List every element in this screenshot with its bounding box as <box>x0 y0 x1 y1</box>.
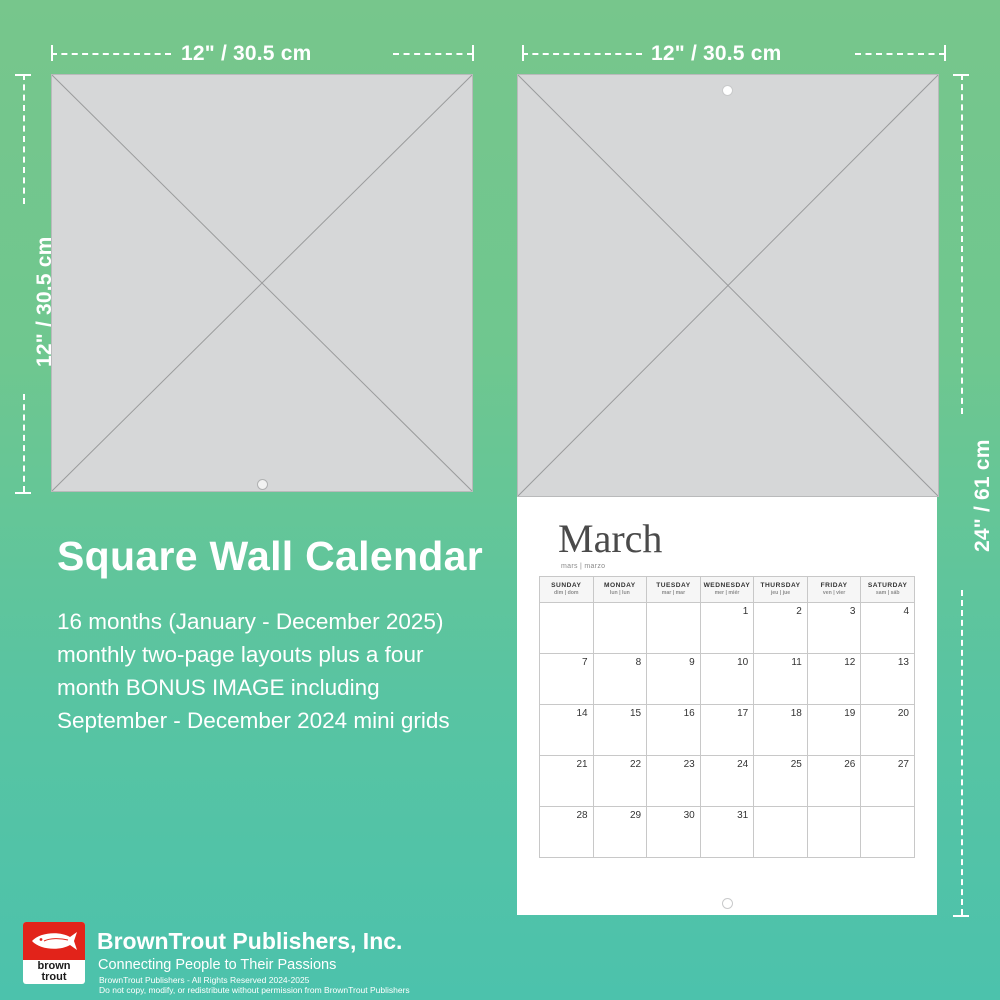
calendar-day-cell[interactable]: 16 <box>647 705 701 756</box>
calendar-day-cell[interactable] <box>540 603 594 654</box>
calendar-header-sunday: SUNDAY dim | dom <box>540 577 594 603</box>
calendar-day-cell-empty <box>807 807 861 858</box>
calendar-day-cell[interactable]: 30 <box>647 807 701 858</box>
calendar-day-cell[interactable]: 8 <box>593 654 647 705</box>
dow-label: THURSDAY <box>754 582 807 589</box>
publisher-tagline: Connecting People to Their Passions <box>98 957 336 973</box>
left-height-arrow-bottom <box>23 394 25 492</box>
calendar-day-cell-empty <box>861 807 915 858</box>
dow-alt-label: sam | sáb <box>861 590 914 596</box>
dow-alt-label: ven | vier <box>808 590 861 596</box>
calendar-day-cell[interactable]: 20 <box>861 705 915 756</box>
calendar-day-cell[interactable]: 28 <box>540 807 594 858</box>
calendar-day-cell[interactable]: 18 <box>754 705 808 756</box>
calendar-page: March mars | marzo SUNDAY dim | dom MOND… <box>517 497 937 915</box>
blurb-line-1: 16 months (January - December 2025) <box>57 605 527 638</box>
right-height-label: 24" / 61 cm <box>971 439 995 552</box>
calendar-grid: SUNDAY dim | dom MONDAY lun | lun TUESDA… <box>539 576 915 858</box>
calendar-day-cell[interactable]: 12 <box>807 654 861 705</box>
legal-line-2: Do not copy, modify, or redistribute wit… <box>99 985 410 995</box>
calendar-day-cell[interactable]: 15 <box>593 705 647 756</box>
calendar-day-cell-empty <box>754 807 808 858</box>
calendar-day-cell[interactable]: 21 <box>540 756 594 807</box>
calendar-header-saturday: SATURDAY sam | sáb <box>861 577 915 603</box>
logo-text-bottom: trout <box>23 972 85 983</box>
calendar-day-cell[interactable]: 1 <box>700 603 754 654</box>
calendar-day-cell[interactable]: 10 <box>700 654 754 705</box>
browntrout-logo: brown trout <box>23 922 85 984</box>
legal-line-1: BrownTrout Publishers - All Rights Reser… <box>99 975 309 985</box>
calendar-day-cell[interactable]: 13 <box>861 654 915 705</box>
dow-alt-label: mer | miér <box>701 590 754 596</box>
calendar-day-cell[interactable] <box>647 603 701 654</box>
dow-label: MONDAY <box>594 582 647 589</box>
placeholder-cross-icon <box>52 75 472 491</box>
calendar-day-cell[interactable]: 26 <box>807 756 861 807</box>
dow-label: SATURDAY <box>861 582 914 589</box>
calendar-day-cell[interactable]: 22 <box>593 756 647 807</box>
dow-label: FRIDAY <box>808 582 861 589</box>
right-top-punch-hole <box>722 85 733 96</box>
calendar-day-cell[interactable]: 29 <box>593 807 647 858</box>
left-punch-hole <box>257 479 268 490</box>
right-width-arrow-right <box>855 53 945 55</box>
calendar-day-cell[interactable]: 17 <box>700 705 754 756</box>
dow-alt-label: mar | mar <box>647 590 700 596</box>
product-description: 16 months (January - December 2025) mont… <box>57 605 527 737</box>
dow-label: SUNDAY <box>540 582 593 589</box>
placeholder-cross-icon <box>518 75 938 496</box>
left-cover-placeholder <box>51 74 473 492</box>
right-width-label: 12" / 30.5 cm <box>651 42 781 66</box>
right-height-cap-top <box>953 74 969 76</box>
dow-alt-label: dim | dom <box>540 590 593 596</box>
left-height-cap-bottom <box>15 492 31 494</box>
calendar-day-cell[interactable]: 31 <box>700 807 754 858</box>
right-width-cap-end <box>944 45 946 61</box>
right-width-cap-start <box>522 45 524 61</box>
calendar-day-cell[interactable]: 2 <box>754 603 808 654</box>
blurb-line-2: monthly two-page layouts plus a four <box>57 638 527 671</box>
right-height-arrow-bottom <box>961 590 963 915</box>
page-title: Square Wall Calendar <box>57 533 483 580</box>
calendar-month-title: March <box>558 519 662 559</box>
footer: brown trout BrownTrout Publishers, Inc. … <box>0 916 1000 1000</box>
left-width-cap-start <box>51 45 53 61</box>
calendar-day-cell[interactable]: 11 <box>754 654 808 705</box>
right-cover-placeholder <box>517 74 939 497</box>
publisher-name: BrownTrout Publishers, Inc. <box>97 928 402 955</box>
left-width-label: 12" / 30.5 cm <box>181 42 311 66</box>
calendar-day-cell[interactable]: 7 <box>540 654 594 705</box>
calendar-day-cell[interactable]: 14 <box>540 705 594 756</box>
blurb-line-4: September - December 2024 mini grids <box>57 704 527 737</box>
calendar-day-cell[interactable]: 27 <box>861 756 915 807</box>
calendar-month-subtitle: mars | marzo <box>561 563 605 570</box>
left-height-arrow-top <box>23 74 25 204</box>
calendar-header-monday: MONDAY lun | lun <box>593 577 647 603</box>
blurb-line-3: month BONUS IMAGE including <box>57 671 527 704</box>
calendar-week-row: 28 29 30 31 <box>540 807 915 858</box>
calendar-header-row: SUNDAY dim | dom MONDAY lun | lun TUESDA… <box>540 577 915 603</box>
calendar-day-cell[interactable]: 4 <box>861 603 915 654</box>
calendar-header-thursday: THURSDAY jeu | jue <box>754 577 808 603</box>
calendar-header-friday: FRIDAY ven | vier <box>807 577 861 603</box>
right-width-arrow-left <box>522 53 642 55</box>
right-bottom-punch-hole <box>722 898 733 909</box>
dow-label: TUESDAY <box>647 582 700 589</box>
calendar-day-cell[interactable] <box>593 603 647 654</box>
left-height-cap-top <box>15 74 31 76</box>
dow-alt-label: jeu | jue <box>754 590 807 596</box>
calendar-day-cell[interactable]: 23 <box>647 756 701 807</box>
calendar-week-row: 14 15 16 17 18 19 20 <box>540 705 915 756</box>
calendar-week-row: 21 22 23 24 25 26 27 <box>540 756 915 807</box>
calendar-week-row: 1 2 3 4 <box>540 603 915 654</box>
left-width-arrow-left <box>51 53 171 55</box>
dow-label: WEDNESDAY <box>701 582 754 589</box>
product-spec-page: 12" / 30.5 cm 12" / 30.5 cm 12" / 30.5 c… <box>0 0 1000 1000</box>
left-width-arrow-right <box>393 53 473 55</box>
calendar-day-cell[interactable]: 3 <box>807 603 861 654</box>
calendar-week-row: 7 8 9 10 11 12 13 <box>540 654 915 705</box>
left-width-cap-end <box>472 45 474 61</box>
calendar-day-cell[interactable]: 24 <box>700 756 754 807</box>
calendar-day-cell[interactable]: 19 <box>807 705 861 756</box>
calendar-header-wednesday: WEDNESDAY mer | miér <box>700 577 754 603</box>
dow-alt-label: lun | lun <box>594 590 647 596</box>
calendar-header-tuesday: TUESDAY mar | mar <box>647 577 701 603</box>
trout-fish-icon <box>30 930 78 952</box>
right-height-arrow-top <box>961 74 963 414</box>
calendar-day-cell[interactable]: 25 <box>754 756 808 807</box>
calendar-day-cell[interactable]: 9 <box>647 654 701 705</box>
